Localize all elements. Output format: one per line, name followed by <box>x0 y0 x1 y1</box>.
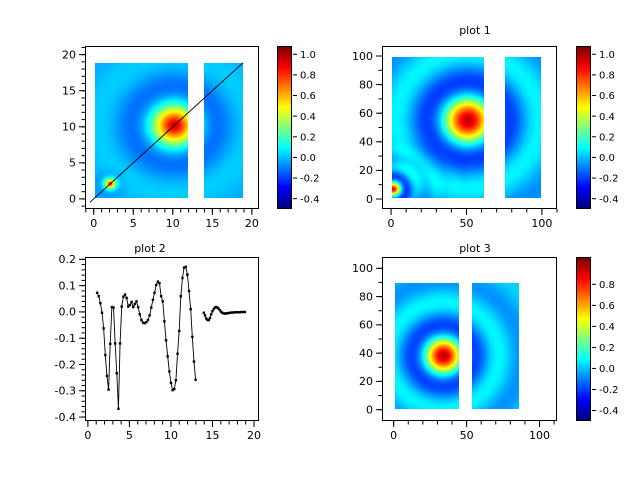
data-point-marker <box>244 311 246 313</box>
data-point-marker <box>194 379 196 381</box>
data-point-marker <box>178 330 180 332</box>
colorbar-ticks-bottom-right: -0.4-0.20.00.20.40.60.8 <box>320 240 640 480</box>
data-point-marker <box>168 370 170 372</box>
data-point-marker <box>170 382 172 384</box>
data-point-marker <box>101 312 103 314</box>
data-point-marker <box>117 408 119 410</box>
tick-label: -0.4 <box>300 194 320 205</box>
data-point-marker <box>188 290 190 292</box>
data-point-marker <box>204 314 206 316</box>
data-point-marker <box>189 308 191 310</box>
data-point-marker <box>180 295 182 297</box>
tick-label: 0.2 <box>599 132 615 143</box>
data-point-marker <box>155 284 157 286</box>
data-point-marker <box>119 342 121 344</box>
series-line <box>97 267 187 409</box>
data-point-marker <box>210 313 212 315</box>
tick-label: 0.4 <box>599 322 615 333</box>
data-point-marker <box>114 342 116 344</box>
data-point-marker <box>112 306 114 308</box>
data-point-marker <box>140 319 142 321</box>
data-point-marker <box>137 306 139 308</box>
data-point-marker <box>99 302 101 304</box>
data-point-marker <box>185 266 187 268</box>
data-point-marker <box>122 295 124 297</box>
data-point-marker <box>109 343 111 345</box>
data-point-marker <box>106 375 108 377</box>
data-point-marker <box>107 388 109 390</box>
tick-label: -0.2 <box>599 385 619 396</box>
data-point-marker <box>163 320 165 322</box>
data-point-marker <box>211 310 213 312</box>
data-point-marker <box>116 372 118 374</box>
data-point-marker <box>150 306 152 308</box>
tick-label: 0.8 <box>599 70 615 81</box>
data-point-marker <box>102 327 104 329</box>
tick-label: -0.4 <box>599 194 619 205</box>
tick-label: -0.2 <box>300 174 320 185</box>
line-series-bottom-left <box>0 240 320 480</box>
colorbar-ticks-top-left: -0.4-0.20.00.20.40.60.81.0 <box>0 0 320 240</box>
data-point-marker <box>153 292 155 294</box>
tick-label: 0.2 <box>599 343 615 354</box>
tick-label: 0.4 <box>599 112 615 123</box>
tick-label: 0.8 <box>300 70 316 81</box>
tick-label: 0.2 <box>300 132 316 143</box>
data-point-marker <box>209 317 211 319</box>
data-point-marker <box>158 282 160 284</box>
data-point-marker <box>104 354 106 356</box>
data-point-marker <box>147 319 149 321</box>
data-point-marker <box>98 295 100 297</box>
data-point-marker <box>162 300 164 302</box>
figure-canvas: 0510152005101520 -0.4-0.20.00.20.40.60.8… <box>0 0 640 480</box>
panel-top-left: 0510152005101520 -0.4-0.20.00.20.40.60.8… <box>0 0 320 240</box>
tick-label: 1.0 <box>599 50 615 61</box>
tick-label: -0.2 <box>599 174 619 185</box>
data-point-marker <box>208 319 210 321</box>
data-point-marker <box>139 313 141 315</box>
data-point-marker <box>186 273 188 275</box>
panel-bottom-left: plot 2 05101520-0.4-0.3-0.2-0.10.00.10.2 <box>0 240 320 480</box>
tick-label: 1.0 <box>300 50 316 61</box>
data-point-marker <box>96 292 98 294</box>
data-point-marker <box>125 297 127 299</box>
data-point-marker <box>132 306 134 308</box>
data-point-marker <box>173 388 175 390</box>
data-point-marker <box>124 293 126 295</box>
line-plot-data <box>96 266 246 410</box>
data-point-marker <box>191 336 193 338</box>
data-point-marker <box>166 355 168 357</box>
tick-label: 0.6 <box>599 301 615 312</box>
data-point-marker <box>193 360 195 362</box>
data-point-marker <box>165 339 167 341</box>
tick-label: 0.0 <box>599 364 615 375</box>
data-point-marker <box>203 312 205 314</box>
data-point-marker <box>129 304 131 306</box>
tick-label: 0.0 <box>300 153 316 164</box>
data-point-marker <box>148 314 150 316</box>
tick-label: 0.8 <box>599 280 615 291</box>
tick-label: 0.6 <box>300 91 316 102</box>
data-point-marker <box>130 301 132 303</box>
colorbar-ticks-top-right: -0.4-0.20.00.20.40.60.81.0 <box>320 0 640 240</box>
data-point-marker <box>152 299 154 301</box>
panel-top-right: plot 1 050100020406080100 -0.4-0.20.00.2… <box>320 0 640 240</box>
data-point-marker <box>160 295 162 297</box>
data-point-marker <box>176 353 178 355</box>
tick-label: 0.4 <box>300 112 316 123</box>
data-point-marker <box>121 305 123 307</box>
data-point-marker <box>145 321 147 323</box>
data-point-marker <box>134 303 136 305</box>
panel-bottom-right: plot 3 050100020406080100 -0.4-0.20.00.2… <box>320 240 640 480</box>
tick-label: 0.6 <box>599 91 615 102</box>
tick-label: -0.4 <box>599 406 619 417</box>
tick-label: 0.0 <box>599 153 615 164</box>
data-point-marker <box>135 300 137 302</box>
data-point-marker <box>175 379 177 381</box>
data-point-marker <box>181 277 183 279</box>
